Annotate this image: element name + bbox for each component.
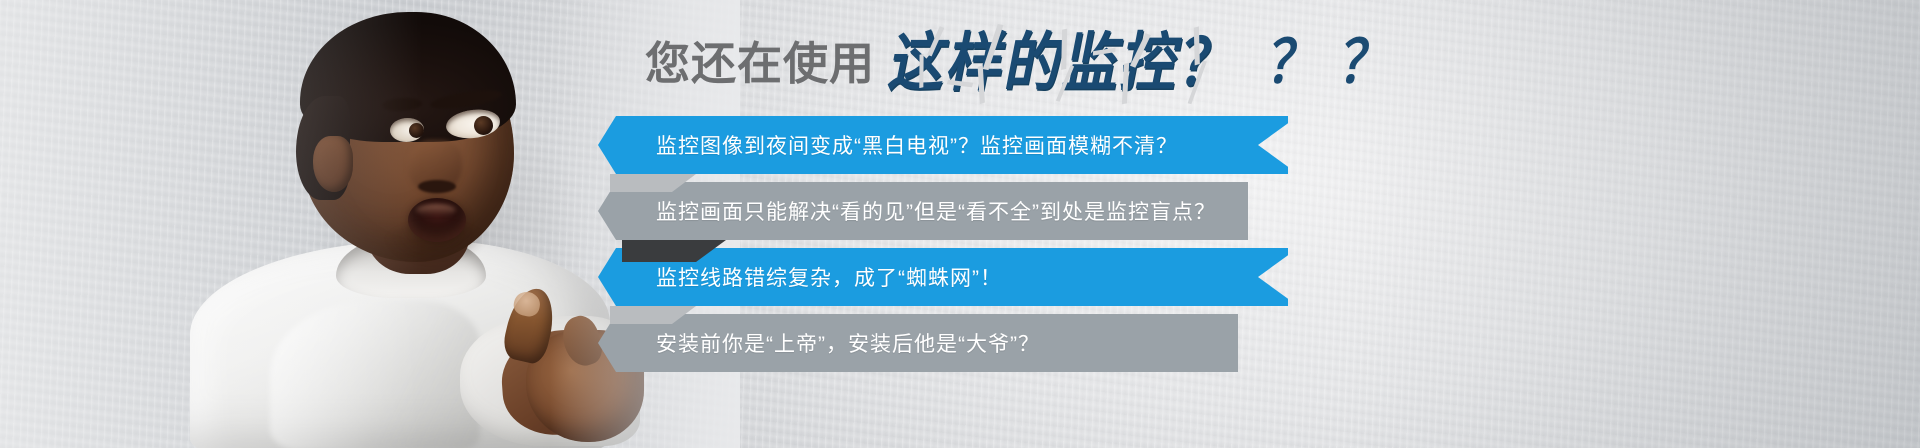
banner-arrow-1[interactable]: 监控图像到夜间变成“黑白电视”？监控画面模糊不清？ [598, 116, 1298, 174]
banner-canvas: 您还在使用 这样的监控？ ？ ？ 监控图像到夜间变成“黑白电视”？监控画面模 [0, 0, 1920, 448]
banner-list: 监控图像到夜间变成“黑白电视”？监控画面模糊不清？ 监控画面只能解决“看的见”但… [0, 116, 1920, 346]
banner-arrow-2[interactable]: 监控画面只能解决“看的见”但是“看不全”到处是监控盲点？ [598, 182, 1298, 240]
banner-row-4[interactable]: 安装前你是“上帝”，安装后他是“大爷”？ [0, 314, 1920, 372]
banner-arrow-4[interactable]: 安装前你是“上帝”，安装后他是“大爷”？ [598, 314, 1298, 372]
headline-highlight-text: 这样的监控？ [884, 27, 1246, 99]
banner-label-2: 监控画面只能解决“看的见”但是“看不全”到处是监控盲点？ [656, 182, 1216, 240]
headline-question-marks: ？ ？ [1269, 37, 1393, 89]
question-mark-1: ？ [1263, 33, 1327, 92]
banner-label-1: 监控图像到夜间变成“黑白电视”？监控画面模糊不清？ [656, 116, 1178, 174]
question-mark-2: ？ [1335, 33, 1399, 92]
headline-prefix: 您还在使用 [645, 41, 875, 86]
headline-highlight: 这样的监控？ [885, 31, 1245, 95]
banner-row-1[interactable]: 监控图像到夜间变成“黑白电视”？监控画面模糊不清？ [0, 116, 1920, 174]
banner-arrow-3[interactable]: 监控线路错综复杂，成了“蜘蛛网”！ [598, 248, 1298, 306]
banner-label-3: 监控线路错综复杂，成了“蜘蛛网”！ [656, 248, 1002, 306]
banner-row-3[interactable]: 监控线路错综复杂，成了“蜘蛛网”！ [0, 248, 1920, 306]
banner-row-2[interactable]: 监控画面只能解决“看的见”但是“看不全”到处是监控盲点？ [0, 182, 1920, 240]
banner-label-4: 安装前你是“上帝”，安装后他是“大爷”？ [656, 314, 1040, 372]
headline: 您还在使用 这样的监控？ ？ ？ [645, 28, 1393, 98]
